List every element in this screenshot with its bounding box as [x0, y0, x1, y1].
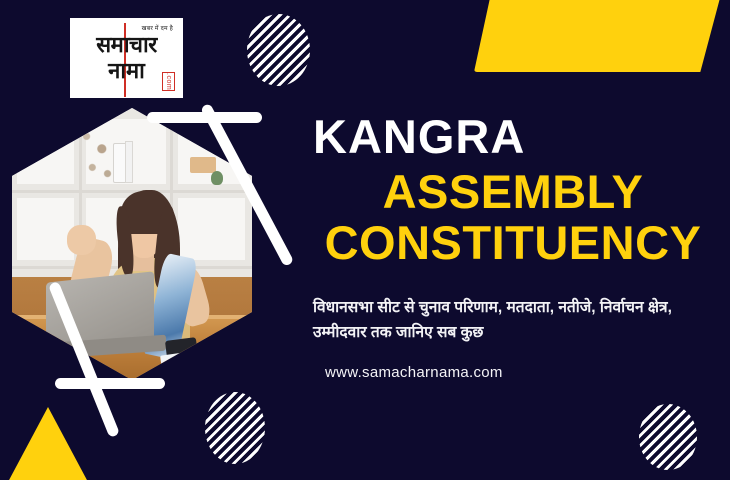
bar-line-bottom: [55, 378, 165, 389]
person-hand: [67, 225, 96, 255]
yellow-trapezoid-shape: [474, 0, 720, 72]
headline-line-1: KANGRA: [313, 112, 713, 161]
decorative-branch: [79, 124, 117, 186]
office-photo: [12, 108, 252, 380]
shelf-divider: [12, 190, 252, 193]
subtitle-text: विधानसभा सीट से चुनाव परिणाम, मतदाता, नत…: [313, 295, 705, 346]
logo-tagline: खबर में दम है: [142, 24, 173, 32]
shelf-cell: [178, 198, 245, 261]
shelf-cell: [17, 198, 75, 261]
website-url[interactable]: www.samacharnama.com: [313, 364, 713, 381]
text-content-block: KANGRA ASSEMBLY CONSTITUENCY विधानसभा सी…: [313, 112, 713, 381]
samacharnama-logo[interactable]: खबर में दम है समाचार नामा .com: [70, 18, 183, 98]
headline-line-2: ASSEMBLY: [313, 167, 713, 218]
striped-circle-bottom: [205, 392, 265, 464]
poster-canvas: खबर में दम है समाचार नामा .com KANGRA AS…: [0, 0, 730, 480]
shelf-plant: [211, 171, 223, 185]
headline-accent-lines: ASSEMBLY CONSTITUENCY: [313, 167, 713, 269]
headline-line-3: CONSTITUENCY: [313, 218, 713, 269]
shelf-books: [190, 157, 216, 173]
striped-circle-bottom-right: [639, 404, 697, 470]
striped-circle-top: [247, 14, 310, 86]
shelf-cell: [17, 119, 75, 184]
logo-dotcom-badge: .com: [162, 72, 175, 91]
logo-inner: खबर में दम है समाचार नामा .com: [76, 22, 177, 94]
yellow-triangle-shape: [8, 407, 88, 480]
hexagon-photo-frame: [12, 108, 252, 380]
bar-line-top: [147, 112, 262, 123]
shelf-papers: [125, 141, 133, 183]
logo-word-primary: समाचार: [76, 34, 177, 56]
